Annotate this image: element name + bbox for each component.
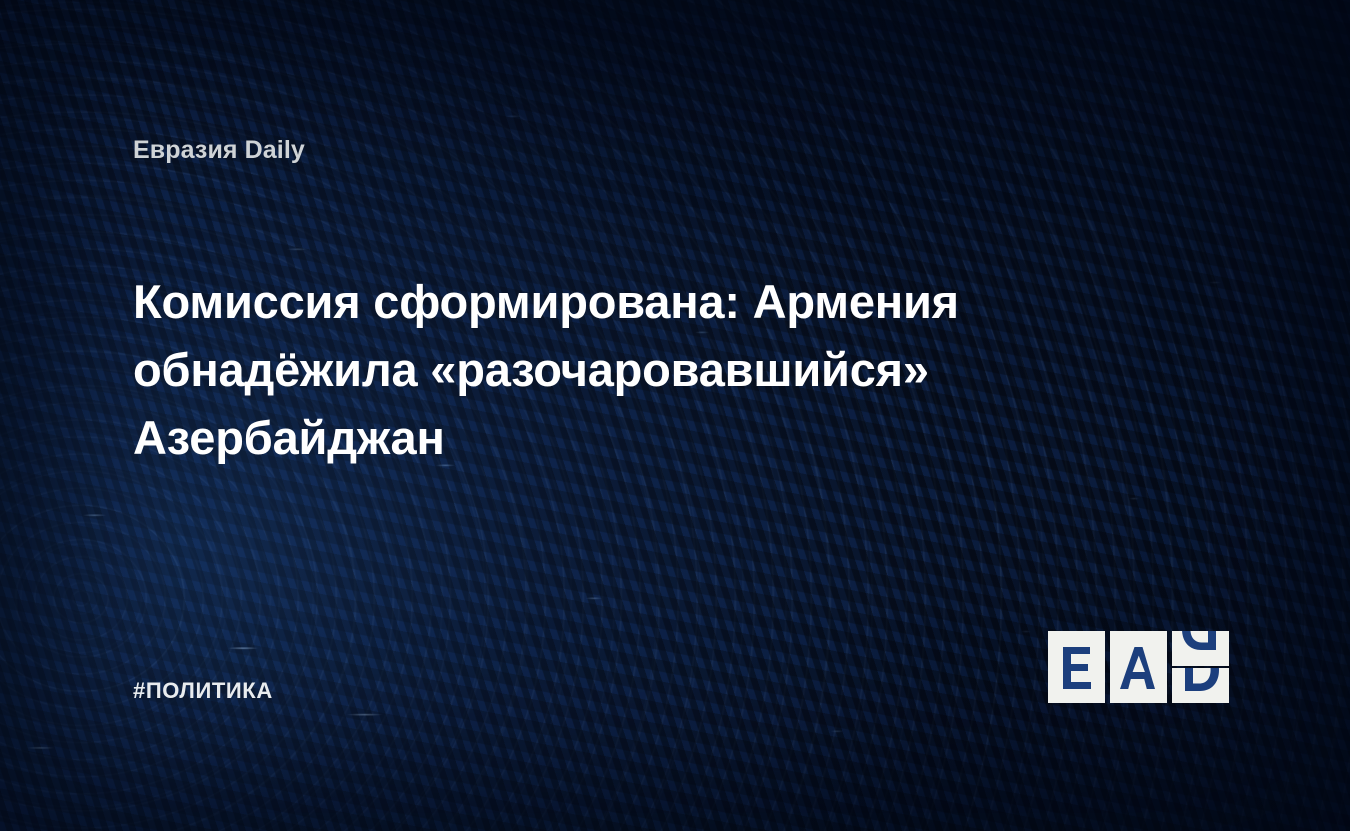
logo-tile-d-bottom-half [1172, 668, 1229, 703]
logo-tile-d-split [1172, 631, 1229, 703]
news-share-card: Евразия Daily Комиссия сформирована: Арм… [0, 0, 1350, 831]
eadaily-logo[interactable] [1048, 631, 1229, 703]
logo-tile-a [1110, 631, 1167, 703]
page-title: Комиссия сформирована: Армения обнадёжил… [133, 268, 1093, 472]
category-tag: #ПОЛИТИКА [133, 678, 273, 704]
logo-tile-d-top-half [1172, 631, 1229, 666]
brand-name: Евразия Daily [133, 136, 305, 165]
logo-tile-e [1048, 631, 1105, 703]
card-content: Евразия Daily Комиссия сформирована: Арм… [0, 0, 1350, 831]
